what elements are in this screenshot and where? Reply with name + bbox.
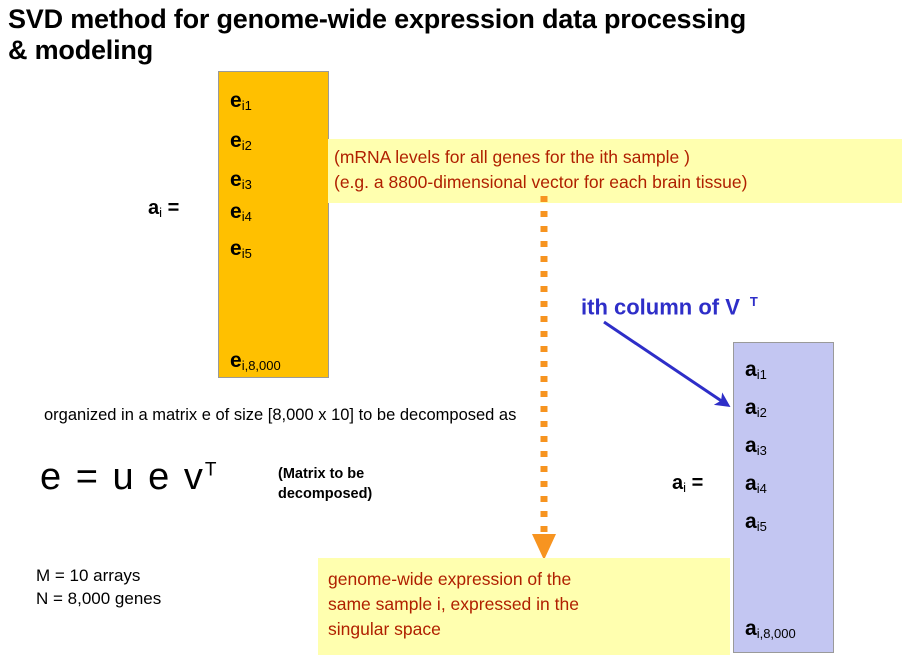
matrix-entry-subscript: i1 (757, 367, 767, 382)
matrix-entry-base: e (230, 168, 242, 191)
matrix-entry-base: a (745, 472, 757, 495)
gene-vector-label: ai = (148, 198, 179, 218)
matrix-entry-subscript: i2 (757, 405, 767, 420)
matrix-entry: ai2 (745, 397, 767, 418)
matrix-entry-base: e (230, 129, 242, 152)
matrix-entry-base: e (230, 237, 242, 260)
matrix-entry-base: a (745, 358, 757, 381)
matrix-entry: ei,8,000 (230, 350, 281, 371)
matrix-entry-base: e (230, 349, 242, 372)
matrix-entry-subscript: i5 (242, 246, 252, 261)
singular-vector-label-subscript: i (683, 480, 686, 495)
page-title: SVD method for genome-wide expression da… (8, 4, 888, 67)
singular-space-callout: genome-wide expression of the same sampl… (318, 558, 730, 655)
gene-vector-label-equals: = (162, 197, 179, 219)
matrix-entry-subscript: i,8,000 (757, 626, 796, 641)
blue-pointer-arrow (600, 318, 750, 413)
gene-expression-matrix-column: ei1 ei2 ei3 ei4 ei5 ei,8,000 (218, 71, 329, 378)
matrix-entry: ai,8,000 (745, 618, 796, 639)
gene-vector-label-base: a (148, 197, 159, 219)
matrix-entry: ei1 (230, 90, 252, 111)
matrix-entry-base: a (745, 617, 757, 640)
matrix-entry: ei5 (230, 238, 252, 259)
matrix-entry-base: e (230, 200, 242, 223)
matrix-entry-subscript: i4 (757, 481, 767, 496)
svd-equation-superscript: T (205, 459, 217, 480)
singular-vector-label: ai = (672, 473, 703, 493)
matrix-entry-subscript: i2 (242, 138, 252, 153)
singular-vector-label-base: a (672, 472, 683, 494)
vt-column-annotation-superscript: T (750, 294, 758, 309)
gene-vector-label-subscript: i (159, 205, 162, 220)
orange-dotted-arrow (528, 196, 564, 564)
svd-equation: e = u e vT (40, 458, 216, 496)
mrna-levels-callout: (mRNA levels for all genes for the ith s… (328, 139, 902, 203)
matrix-entry-subscript: i1 (242, 98, 252, 113)
matrix-entry-subscript: i3 (242, 177, 252, 192)
matrix-entry-subscript: i,8,000 (242, 358, 281, 373)
matrix-entry: ai4 (745, 473, 767, 494)
matrix-entry-subscript: i3 (757, 443, 767, 458)
matrix-decomposed-note: (Matrix to be decomposed) (278, 465, 408, 504)
matrix-entry: ei4 (230, 201, 252, 222)
vt-column-annotation: ith column of VT (581, 295, 758, 318)
vt-column-annotation-text: ith column of V (581, 294, 740, 319)
matrix-description-text: organized in a matrix e of size [8,000 x… (44, 406, 516, 425)
matrix-entry: ai1 (745, 359, 767, 380)
svd-equation-text: e = u e v (40, 456, 205, 498)
matrix-entry: ai5 (745, 511, 767, 532)
dimensions-note: M = 10 arrays N = 8,000 genes (36, 565, 161, 611)
matrix-entry-base: a (745, 510, 757, 533)
singular-space-matrix-column: ai1 ai2 ai3 ai4 ai5 ai,8,000 (733, 342, 834, 653)
matrix-entry-subscript: i4 (242, 209, 252, 224)
matrix-entry-base: e (230, 89, 242, 112)
matrix-entry: ai3 (745, 435, 767, 456)
matrix-entry-base: a (745, 396, 757, 419)
matrix-entry-subscript: i5 (757, 519, 767, 534)
singular-vector-label-equals: = (686, 472, 703, 494)
matrix-entry-base: a (745, 434, 757, 457)
matrix-entry: ei3 (230, 169, 252, 190)
matrix-entry: ei2 (230, 130, 252, 151)
